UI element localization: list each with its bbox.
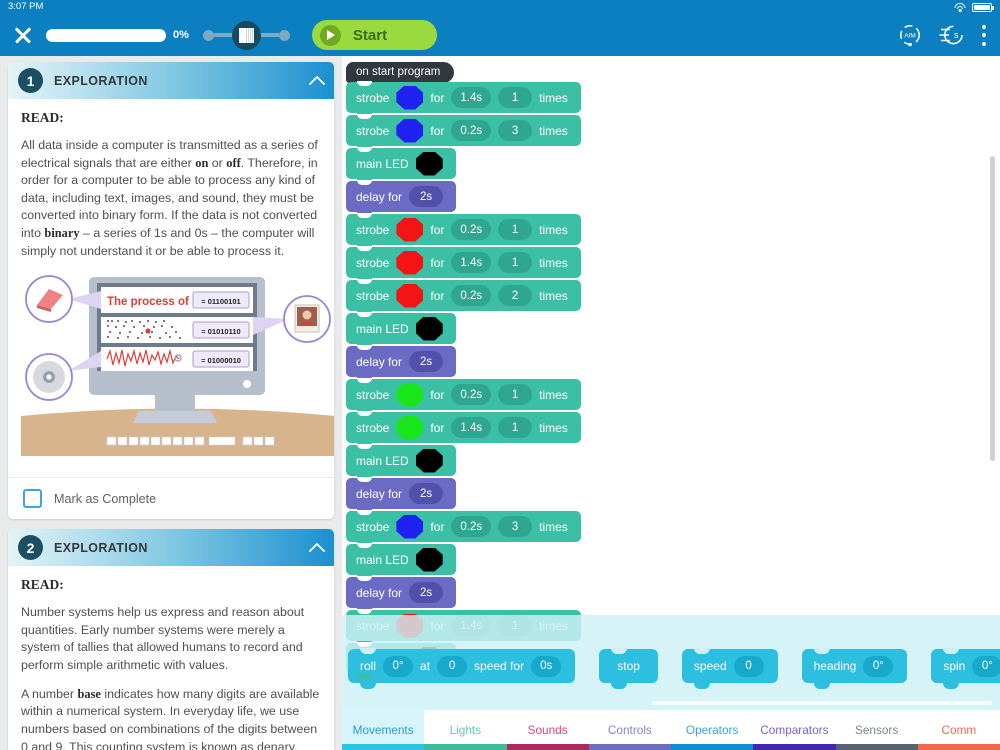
block-label: times	[539, 520, 568, 534]
svg-text:s: s	[954, 30, 959, 40]
block-label: times	[539, 421, 568, 435]
block-label: strobe	[356, 124, 389, 138]
tab-underline	[671, 744, 753, 750]
exploration-card-1-header[interactable]: 1 EXPLORATION	[8, 62, 334, 99]
block-field[interactable]: 3	[498, 516, 532, 537]
color-swatch-icon[interactable]	[396, 383, 423, 407]
program-block-led[interactable]: main LED	[346, 313, 456, 344]
start-button[interactable]: Start	[312, 20, 437, 50]
block-field[interactable]: 1	[498, 384, 532, 405]
wifi-icon	[954, 2, 966, 12]
checkbox-icon[interactable]	[23, 489, 42, 508]
block-field[interactable]: 0.2s	[451, 120, 491, 141]
status-bar: 3:07 PM	[0, 0, 1000, 14]
block-field[interactable]: 1	[498, 87, 532, 108]
tab-operators[interactable]: Operators	[671, 710, 753, 750]
color-swatch-icon[interactable]	[396, 284, 423, 308]
tab-label: Operators	[686, 723, 738, 737]
tab-underline	[589, 744, 671, 750]
tab-comm[interactable]: Comm	[918, 710, 1000, 750]
color-swatch-icon[interactable]	[396, 86, 423, 110]
progress-indicator: 0%	[46, 29, 189, 42]
exploration-card-2-body: READ: Number systems help us express and…	[8, 566, 334, 750]
program-block-led[interactable]: main LED	[346, 148, 456, 179]
block-label: times	[539, 289, 568, 303]
card-number-badge: 2	[18, 535, 43, 560]
block-label: for	[430, 421, 444, 435]
block-label: for	[430, 256, 444, 270]
tab-label: Movements	[353, 723, 414, 737]
block-label: main LED	[356, 322, 409, 336]
top-toolbar: 0% Start AIM	[0, 14, 1000, 56]
svg-text:= 01100101: = 01100101	[201, 297, 240, 306]
palette-horizontal-scrollbar[interactable]	[652, 701, 992, 705]
block-label: delay for	[356, 586, 402, 600]
program-block-delay[interactable]: delay for2s	[346, 577, 456, 608]
tab-underline	[836, 744, 918, 750]
lesson-panel[interactable]: 1 EXPLORATION READ: All data inside a co…	[0, 56, 342, 750]
speed-slider[interactable]	[203, 21, 290, 50]
palette-stop-block[interactable]: stop	[599, 649, 658, 683]
block-label: strobe	[356, 520, 389, 534]
program-block-delay[interactable]: delay for2s	[346, 346, 456, 377]
tab-underline	[342, 744, 424, 750]
block-label: for	[430, 388, 444, 402]
palette-block-field[interactable]: 0s	[531, 656, 561, 677]
binary-conversion-diagram: The process of = 01100101	[21, 271, 321, 456]
progress-percent-label: 0%	[173, 29, 189, 41]
block-field[interactable]: 2s	[409, 351, 443, 372]
block-label: times	[539, 388, 568, 402]
color-swatch-icon[interactable]	[396, 416, 423, 440]
exploration-card-2-header[interactable]: 2 EXPLORATION	[8, 529, 334, 566]
block-field[interactable]: 2s	[409, 582, 443, 603]
block-field[interactable]: 1	[498, 252, 532, 273]
status-bar-indicators	[954, 2, 992, 12]
aim-icon[interactable]: AIM	[897, 22, 923, 48]
block-field[interactable]: 1.4s	[451, 252, 491, 273]
svg-text:= 01010110: = 01010110	[201, 327, 240, 336]
block-label: times	[539, 91, 568, 105]
block-label: for	[430, 124, 444, 138]
tab-label: Sounds	[528, 723, 568, 737]
color-swatch-icon[interactable]	[416, 449, 443, 473]
tab-underline	[918, 744, 1000, 750]
block-label: for	[430, 91, 444, 105]
block-label: delay for	[356, 190, 402, 204]
mark-as-complete-checkbox[interactable]: Mark as Complete	[21, 485, 321, 510]
page-title: EXPLORATION	[54, 74, 148, 88]
tab-underline	[507, 744, 589, 750]
card-number-badge: 1	[18, 68, 43, 93]
palette-block-field[interactable]: 0°	[863, 656, 893, 677]
read-label: READ:	[21, 577, 321, 593]
block-label: main LED	[356, 553, 409, 567]
block-label: strobe	[356, 289, 389, 303]
battery-icon	[972, 3, 992, 12]
svg-text:= 01000010: = 01000010	[201, 356, 241, 365]
block-field[interactable]: 0.2s	[451, 384, 491, 405]
tab-movements[interactable]: Movements	[342, 710, 424, 750]
tab-underline	[753, 744, 835, 750]
block-label: times	[539, 256, 568, 270]
color-swatch-icon[interactable]	[416, 317, 443, 341]
svg-text:AIM: AIM	[904, 33, 916, 40]
palette-block-label: heading	[814, 659, 857, 673]
tab-sensors[interactable]: Sensors	[836, 710, 918, 750]
tab-label: Sensors	[855, 723, 898, 737]
play-icon	[320, 25, 341, 46]
close-icon[interactable]	[10, 22, 36, 48]
color-swatch-icon[interactable]	[416, 152, 443, 176]
block-field[interactable]: 1.4s	[451, 87, 491, 108]
block-field[interactable]: 1	[498, 417, 532, 438]
palette-block-row: roll0°at0speed for0sstopspeed0heading0°s…	[348, 649, 1000, 683]
slider-right-dot-icon	[279, 30, 290, 41]
chevron-up-icon[interactable]	[309, 73, 324, 88]
read-label: READ:	[21, 110, 321, 126]
block-field[interactable]: 0.2s	[451, 219, 491, 240]
palette-block-label: speed	[694, 659, 727, 673]
hat-block-on-start-program[interactable]: on start program	[346, 62, 454, 83]
block-palette[interactable]: roll0°at0speed for0sstopspeed0heading0°s…	[342, 615, 1000, 710]
speedometer-icon[interactable]: s	[939, 24, 965, 46]
tab-lights[interactable]: Lights	[424, 710, 506, 750]
block-field[interactable]: 2	[498, 285, 532, 306]
lesson-paragraph: Number systems help us express and reaso…	[21, 604, 321, 674]
tab-label: Comparators	[760, 723, 828, 737]
palette-speed-block[interactable]: speed0	[682, 649, 778, 683]
program-block-strobe[interactable]: strobefor1.4s1times	[346, 247, 581, 278]
color-swatch-icon[interactable]	[396, 251, 423, 275]
palette-block-field[interactable]: 0	[437, 656, 467, 677]
block-field[interactable]: 1	[498, 219, 532, 240]
block-label: for	[430, 520, 444, 534]
block-field[interactable]: 2s	[409, 483, 443, 504]
speed-slider-knob-icon[interactable]	[232, 21, 261, 50]
palette-block-label: roll	[360, 659, 376, 673]
program-block-delay[interactable]: delay for2s	[346, 181, 456, 212]
exploration-card-1: 1 EXPLORATION READ: All data inside a co…	[8, 62, 334, 519]
tab-comparators[interactable]: Comparators	[753, 710, 835, 750]
block-label: delay for	[356, 355, 402, 369]
block-label: main LED	[356, 454, 409, 468]
program-block-strobe[interactable]: strobefor0.2s3times	[346, 115, 581, 146]
block-field[interactable]: 3	[498, 120, 532, 141]
page-title: EXPLORATION	[54, 541, 148, 555]
canvas-vertical-scrollbar[interactable]	[990, 156, 995, 461]
color-swatch-icon[interactable]	[396, 218, 423, 242]
program-block-led[interactable]: main LED	[346, 544, 456, 575]
block-label: times	[539, 223, 568, 237]
palette-heading-block[interactable]: heading0°	[802, 649, 908, 683]
exploration-card-2: 2 EXPLORATION READ: Number systems help …	[8, 529, 334, 750]
tab-controls[interactable]: Controls	[589, 710, 671, 750]
program-block-strobe[interactable]: strobefor0.2s1times	[346, 214, 581, 245]
block-label: strobe	[356, 388, 389, 402]
palette-block-field[interactable]: 0°	[972, 656, 1000, 677]
block-stack: strobefor1.4s1timesstrobefor0.2s3timesma…	[346, 82, 581, 676]
lesson-paragraph: A number base indicates how many digits …	[21, 686, 321, 750]
program-block-strobe[interactable]: strobefor1.4s1times	[346, 412, 581, 443]
block-label: main LED	[356, 157, 409, 171]
start-button-label: Start	[353, 27, 387, 44]
block-label: strobe	[356, 256, 389, 270]
tab-underline	[424, 744, 506, 750]
block-field[interactable]: 0.2s	[451, 516, 491, 537]
block-field[interactable]: 0.2s	[451, 285, 491, 306]
program-block-delay[interactable]: delay for2s	[346, 478, 456, 509]
toolbar-icons: AIM s	[897, 22, 990, 48]
palette-roll-block[interactable]: roll0°at0speed for0s	[348, 649, 575, 683]
lesson-paragraph: All data inside a computer is transmitte…	[21, 137, 321, 260]
block-label: strobe	[356, 421, 389, 435]
block-label: for	[430, 223, 444, 237]
palette-block-label: at	[420, 659, 430, 673]
block-field[interactable]: 1.4s	[451, 417, 491, 438]
overflow-menu-icon[interactable]	[981, 25, 986, 46]
app-root: 3:07 PM 0% Start	[0, 0, 1000, 750]
program-block-strobe[interactable]: strobefor0.2s3times	[346, 511, 581, 542]
block-label: for	[430, 289, 444, 303]
palette-block-label: speed for	[474, 659, 524, 673]
block-label: strobe	[356, 91, 389, 105]
chevron-up-icon[interactable]	[309, 540, 324, 555]
color-swatch-icon[interactable]	[396, 119, 423, 143]
palette-block-field[interactable]: 0	[734, 656, 764, 677]
color-swatch-icon[interactable]	[396, 515, 423, 539]
tab-label: Controls	[608, 723, 652, 737]
block-label: times	[539, 124, 568, 138]
tab-label: Comm	[942, 723, 977, 737]
program-block-strobe[interactable]: strobefor1.4s1times	[346, 82, 581, 113]
mark-as-complete-label: Mark as Complete	[54, 492, 156, 506]
tab-label: Lights	[450, 723, 481, 737]
program-block-led[interactable]: main LED	[346, 445, 456, 476]
palette-block-label: spin	[943, 659, 965, 673]
palette-block-label: stop	[617, 659, 640, 673]
block-label: strobe	[356, 223, 389, 237]
category-tab-bar: MovementsLightsSoundsControlsOperatorsCo…	[342, 710, 1000, 750]
progress-bar	[46, 29, 166, 42]
palette-spin-block[interactable]: spin0°for0s	[931, 649, 1000, 683]
slider-left-dot-icon	[203, 30, 214, 41]
block-label: delay for	[356, 487, 402, 501]
program-block-strobe[interactable]: strobefor0.2s2times	[346, 280, 581, 311]
exploration-card-1-body: READ: All data inside a computer is tran…	[8, 99, 334, 477]
block-field[interactable]: 2s	[409, 186, 443, 207]
tab-sounds[interactable]: Sounds	[507, 710, 589, 750]
program-block-strobe[interactable]: strobefor0.2s1times	[346, 379, 581, 410]
color-swatch-icon[interactable]	[416, 548, 443, 572]
status-bar-time: 3:07 PM	[8, 0, 43, 14]
svg-text:The process of: The process of	[107, 296, 189, 308]
palette-block-field[interactable]: 0°	[383, 656, 413, 677]
